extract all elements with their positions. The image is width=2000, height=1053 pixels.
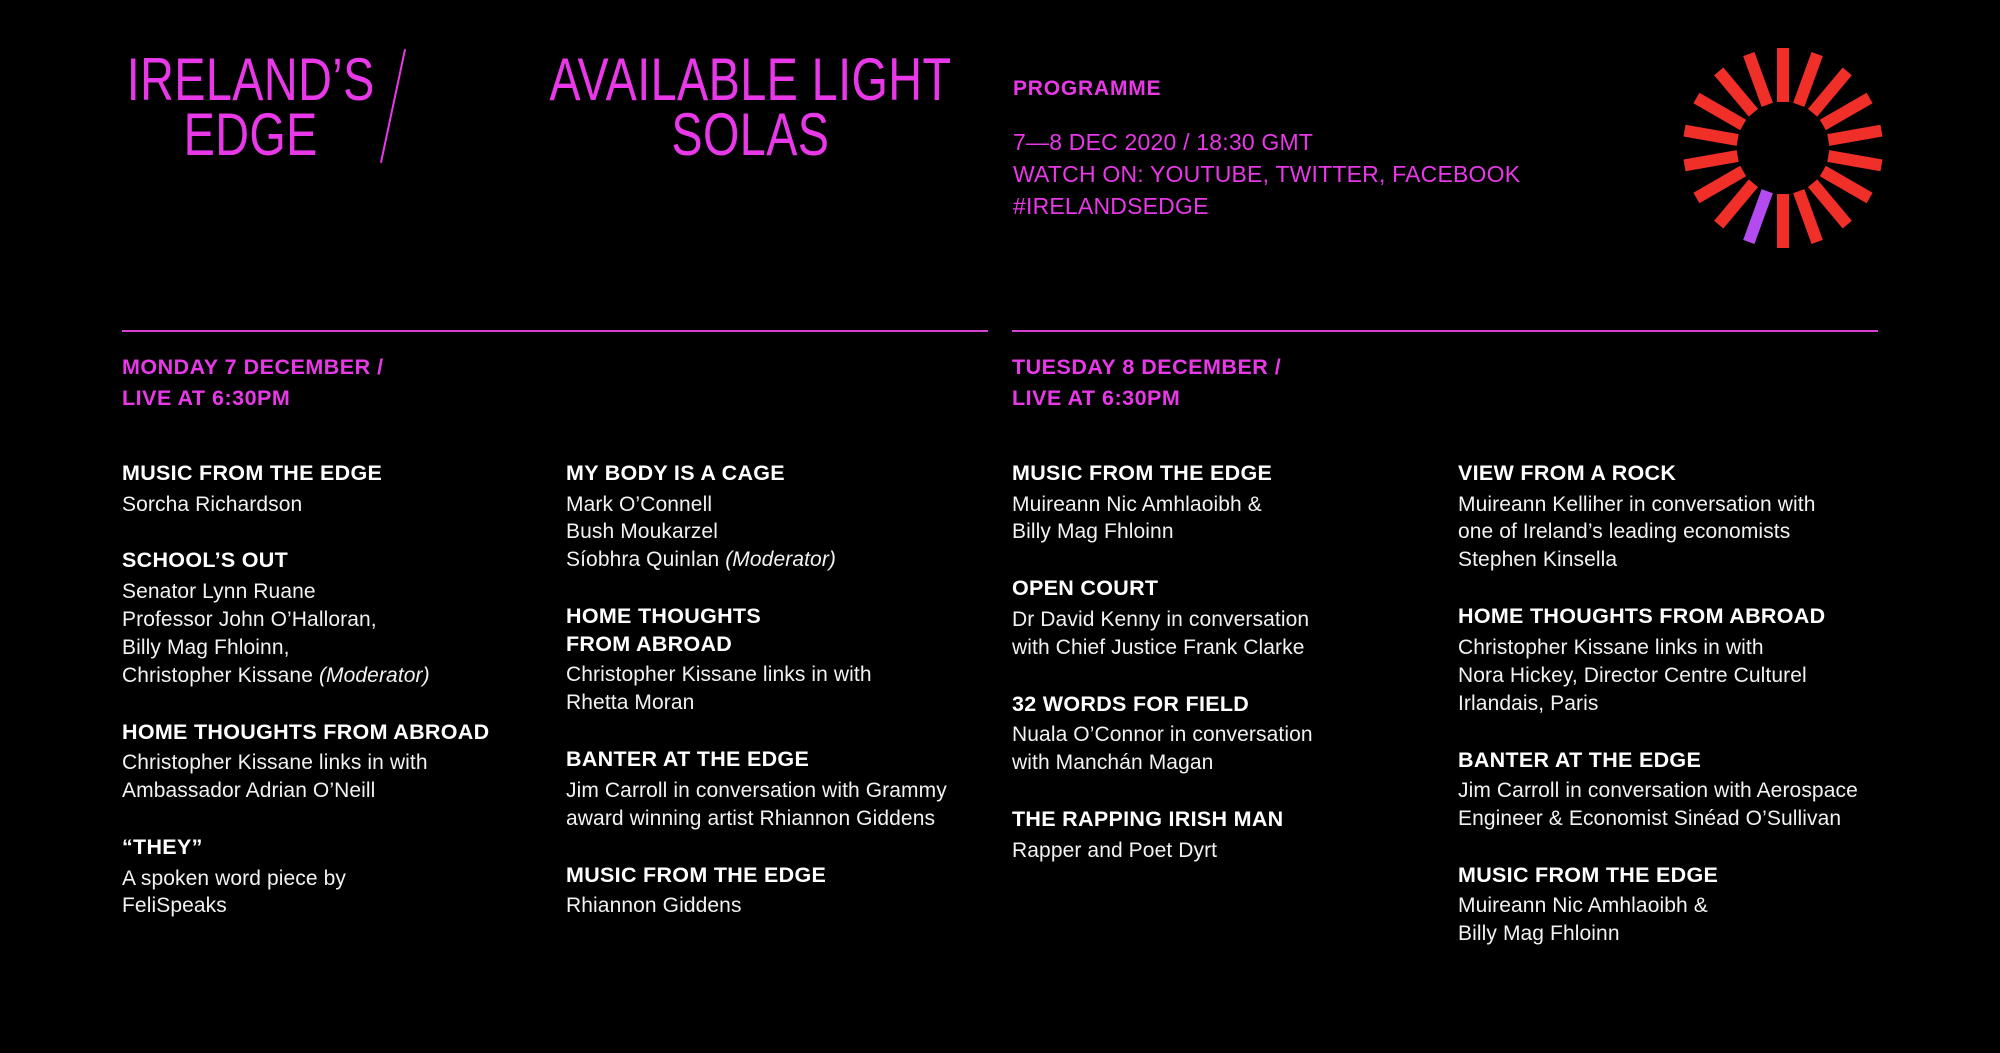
monday-column-2: MY BODY IS A CAGEMark O’ConnellBush Mouk… (566, 460, 986, 920)
programme-item-line: Billy Mag Fhloinn, (122, 634, 532, 662)
programme-item: “THEY”A spoken word piece byFeliSpeaks (122, 834, 532, 920)
programme-poster: IRELAND’S EDGE AVAILABLE LIGHT SOLAS PRO… (0, 0, 2000, 1053)
programme-item-title: MUSIC FROM THE EDGE (1012, 460, 1422, 488)
programme-item-line: FeliSpeaks (122, 892, 532, 920)
programme-item-title: THE RAPPING IRISH MAN (1012, 806, 1422, 834)
programme-item-line: Professor John O’Halloran, (122, 606, 532, 634)
programme-item-line: A spoken word piece by (122, 865, 532, 893)
programme-item-line: Rhiannon Giddens (566, 892, 986, 920)
programme-item-title: MUSIC FROM THE EDGE (1458, 862, 1888, 890)
sunburst-ray (1777, 194, 1789, 248)
programme-item-title: HOME THOUGHTSFROM ABROAD (566, 603, 986, 658)
moderator-note: (Moderator) (319, 664, 430, 687)
programme-item-line: Sorcha Richardson (122, 491, 532, 519)
programme-info: PROGRAMME 7—8 DEC 2020 / 18:30 GMT WATCH… (1013, 76, 1520, 222)
wordmark-line-1: AVAILABLE LIGHT (532, 52, 969, 107)
programme-item: BANTER AT THE EDGEJim Carroll in convers… (566, 746, 986, 832)
programme-item-line: Nora Hickey, Director Centre Culturel (1458, 662, 1888, 690)
day-time-line: LIVE AT 6:30PM (1012, 383, 1281, 414)
programme-item-line: with Chief Justice Frank Clarke (1012, 634, 1422, 662)
programme-item-title: OPEN COURT (1012, 575, 1422, 603)
programme-item: MUSIC FROM THE EDGEMuireann Nic Amhlaoib… (1458, 862, 1888, 948)
programme-item-title: SCHOOL’S OUT (122, 547, 532, 575)
divider-rule-monday (122, 330, 988, 332)
programme-item-line: one of Ireland’s leading economists (1458, 518, 1888, 546)
day-date-line: TUESDAY 8 DECEMBER / (1012, 352, 1281, 383)
programme-item-line: Stephen Kinsella (1458, 546, 1888, 574)
sunburst-ray (1683, 150, 1738, 171)
programme-item-line: Mark O’Connell (566, 491, 986, 519)
programme-item: HOME THOUGHTS FROM ABROADChristopher Kis… (1458, 603, 1888, 717)
programme-hashtag: #IRELANDSEDGE (1013, 191, 1520, 223)
programme-item: THE RAPPING IRISH MANRapper and Poet Dyr… (1012, 806, 1422, 864)
sunburst-ray (1827, 150, 1882, 171)
day-time-line: LIVE AT 6:30PM (122, 383, 384, 414)
programme-item-line: Christopher Kissane (Moderator) (122, 662, 532, 690)
programme-item-line: Bush Moukarzel (566, 518, 986, 546)
programme-item-line: Billy Mag Fhloinn (1458, 920, 1888, 948)
sunburst-ray (1827, 125, 1882, 146)
monday-column-1: MUSIC FROM THE EDGESorcha RichardsonSCHO… (122, 460, 532, 920)
poster-header: IRELAND’S EDGE AVAILABLE LIGHT SOLAS PRO… (0, 0, 2000, 300)
programme-item: VIEW FROM A ROCKMuireann Kelliher in con… (1458, 460, 1888, 574)
programme-dates: 7—8 DEC 2020 / 18:30 GMT (1013, 127, 1520, 159)
programme-item-title: MY BODY IS A CAGE (566, 460, 986, 488)
programme-item-title: BANTER AT THE EDGE (1458, 747, 1888, 775)
programme-item: SCHOOL’S OUTSenator Lynn RuaneProfessor … (122, 547, 532, 689)
programme-item-line: Christopher Kissane links in with (1458, 634, 1888, 662)
programme-item-line: Muireann Nic Amhlaoibh & (1458, 892, 1888, 920)
day-heading-monday: MONDAY 7 DECEMBER / LIVE AT 6:30PM (122, 352, 384, 413)
moderator-note: (Moderator) (725, 548, 836, 571)
programme-item-line: Billy Mag Fhloinn (1012, 518, 1422, 546)
sunburst-ray (1683, 125, 1738, 146)
programme-item-title: 32 WORDS FOR FIELD (1012, 691, 1422, 719)
programme-item-line: Muireann Nic Amhlaoibh & (1012, 491, 1422, 519)
programme-item: HOME THOUGHTSFROM ABROADChristopher Kiss… (566, 603, 986, 717)
brand-logo-lockup: IRELAND’S EDGE AVAILABLE LIGHT SOLAS (122, 52, 1092, 162)
programme-item-line: award winning artist Rhiannon Giddens (566, 805, 986, 833)
programme-item: BANTER AT THE EDGEJim Carroll in convers… (1458, 747, 1888, 833)
available-light-wordmark: AVAILABLE LIGHT SOLAS (532, 52, 969, 162)
programme-item-line: Ambassador Adrian O’Neill (122, 777, 532, 805)
programme-item-title: HOME THOUGHTS FROM ABROAD (1458, 603, 1888, 631)
tuesday-column-2: VIEW FROM A ROCKMuireann Kelliher in con… (1458, 460, 1888, 948)
programme-item-line: Rapper and Poet Dyrt (1012, 837, 1422, 865)
ireland-edge-sunburst-logo (1683, 48, 1883, 248)
programme-item: 32 WORDS FOR FIELDNuala O’Connor in conv… (1012, 691, 1422, 777)
programme-item-line: Senator Lynn Ruane (122, 578, 532, 606)
programme-item: MUSIC FROM THE EDGERhiannon Giddens (566, 862, 986, 920)
programme-item-line: Jim Carroll in conversation with Aerospa… (1458, 777, 1888, 805)
programme-item: HOME THOUGHTS FROM ABROADChristopher Kis… (122, 719, 532, 805)
divider-rule-tuesday (1012, 330, 1878, 332)
programme-item: OPEN COURTDr David Kenny in conversation… (1012, 575, 1422, 661)
programme-item-title: VIEW FROM A ROCK (1458, 460, 1888, 488)
programme-item-line: Christopher Kissane links in with (122, 749, 532, 777)
programme-item-title: MUSIC FROM THE EDGE (122, 460, 532, 488)
programme-item-line: Muireann Kelliher in conversation with (1458, 491, 1888, 519)
wordmark-line-2: EDGE (122, 107, 379, 162)
programme-watch-on: WATCH ON: YOUTUBE, TWITTER, FACEBOOK (1013, 159, 1520, 191)
irelands-edge-wordmark: IRELAND’S EDGE (122, 52, 379, 162)
wordmark-line-1: IRELAND’S (122, 52, 379, 107)
programme-details: 7—8 DEC 2020 / 18:30 GMT WATCH ON: YOUTU… (1013, 127, 1520, 222)
sunburst-ray (1777, 48, 1789, 102)
programme-item: MUSIC FROM THE EDGESorcha Richardson (122, 460, 532, 518)
day-heading-tuesday: TUESDAY 8 DECEMBER / LIVE AT 6:30PM (1012, 352, 1281, 413)
programme-label: PROGRAMME (1013, 76, 1520, 101)
day-date-line: MONDAY 7 DECEMBER / (122, 352, 384, 383)
wordmark-line-2: SOLAS (532, 107, 969, 162)
programme-item: MUSIC FROM THE EDGEMuireann Nic Amhlaoib… (1012, 460, 1422, 546)
programme-item-line: Nuala O’Connor in conversation (1012, 721, 1422, 749)
programme-item-line: Christopher Kissane links in with (566, 661, 986, 689)
programme-item-title: MUSIC FROM THE EDGE (566, 862, 986, 890)
programme-item-line: Irlandais, Paris (1458, 690, 1888, 718)
programme-item-line: Dr David Kenny in conversation (1012, 606, 1422, 634)
programme-item-title: BANTER AT THE EDGE (566, 746, 986, 774)
programme-item-title: “THEY” (122, 834, 532, 862)
programme-item-line: Engineer & Economist Sinéad O’Sullivan (1458, 805, 1888, 833)
tuesday-column-1: MUSIC FROM THE EDGEMuireann Nic Amhlaoib… (1012, 460, 1422, 865)
programme-item-title: HOME THOUGHTS FROM ABROAD (122, 719, 532, 747)
programme-item-line: Rhetta Moran (566, 689, 986, 717)
programme-item-line: with Manchán Magan (1012, 749, 1422, 777)
programme-item-line: Jim Carroll in conversation with Grammy (566, 777, 986, 805)
programme-item-line: Síobhra Quinlan (Moderator) (566, 546, 986, 574)
programme-item: MY BODY IS A CAGEMark O’ConnellBush Mouk… (566, 460, 986, 574)
